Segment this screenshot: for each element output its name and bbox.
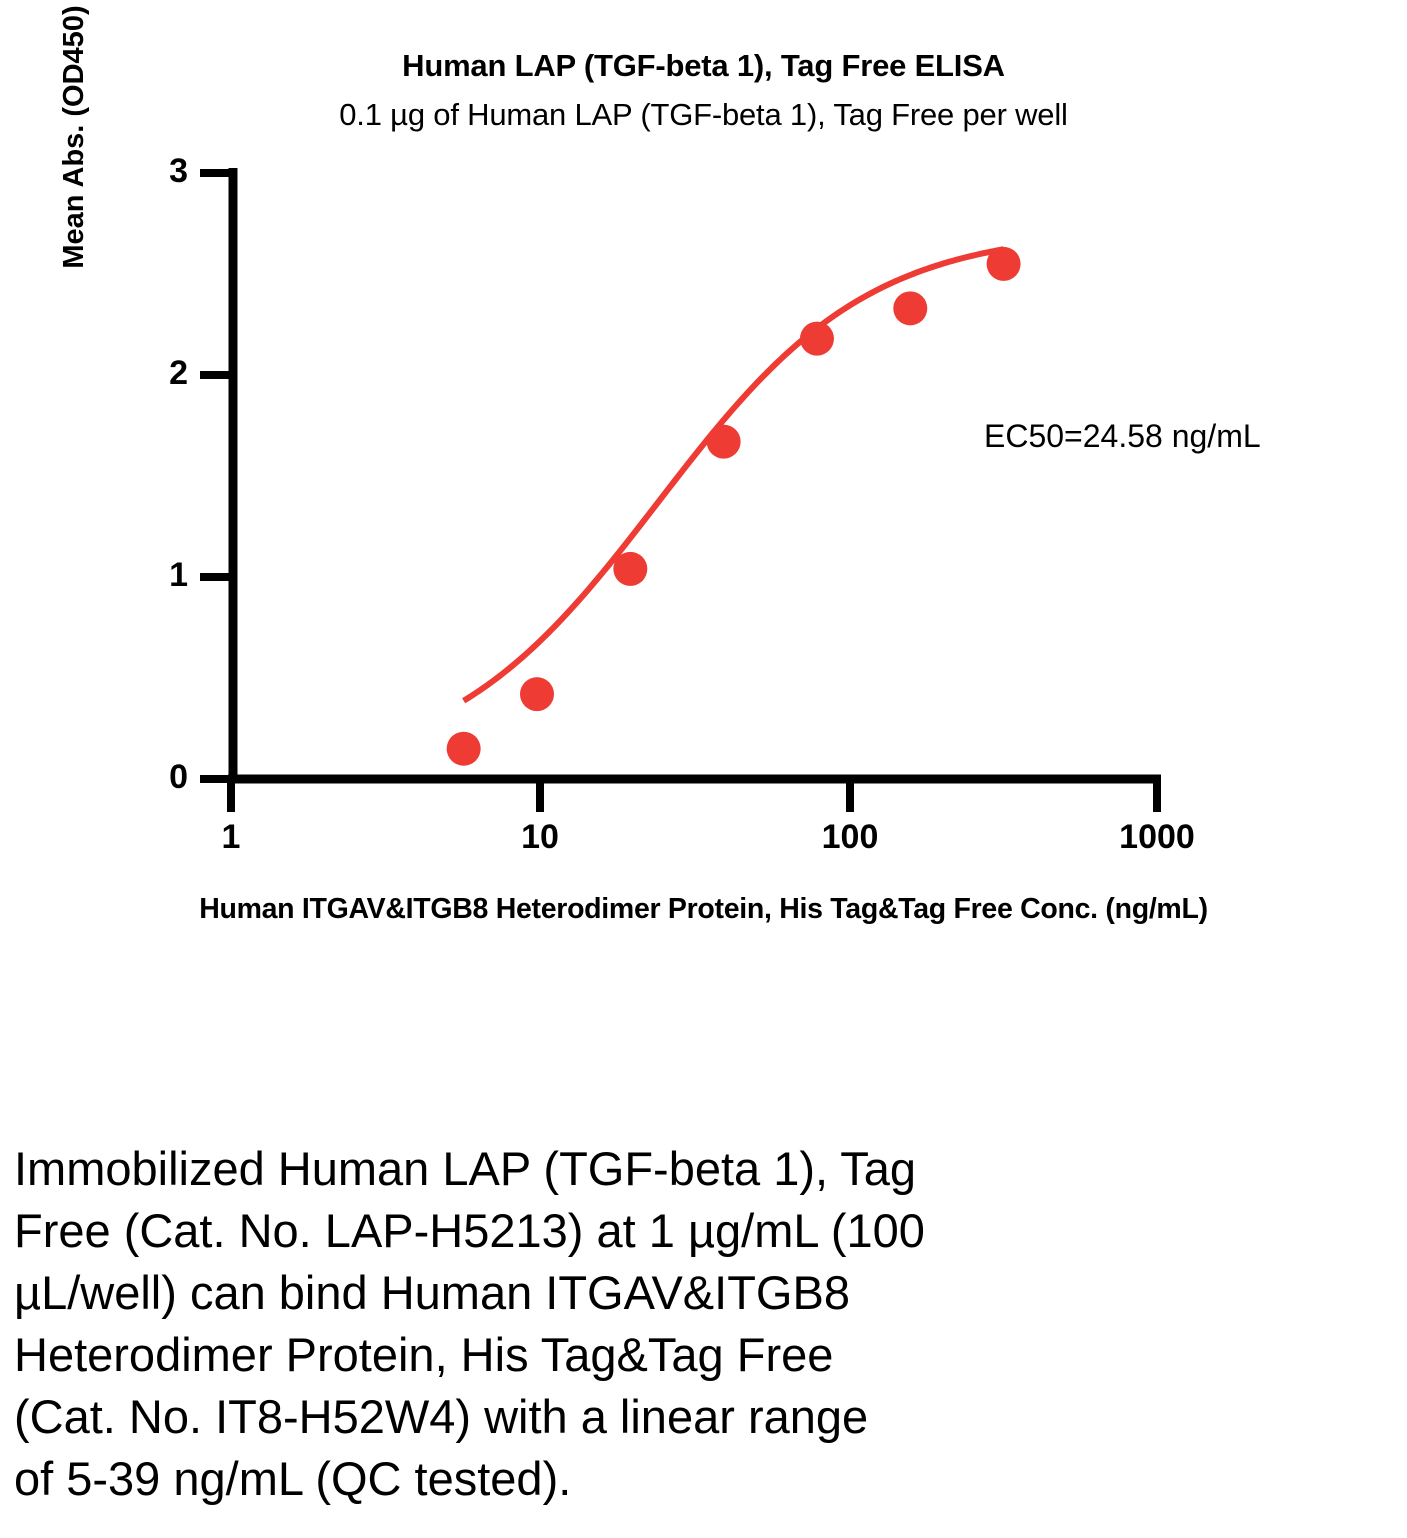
x-tick-label-1: 1 [191,818,271,857]
y-axis-ticks [200,173,233,779]
data-point [447,732,481,766]
data-point [800,322,834,356]
caption-line: (Cat. No. IT8-H52W4) with a linear range [14,1386,1184,1448]
caption-line: µL/well) can bind Human ITGAV&ITGB8 [14,1262,1184,1324]
y-axis-label: Mean Abs. (OD450) [58,0,98,327]
ec50-annotation: EC50=24.58 ng/mL [984,418,1261,455]
x-axis-ticks [231,779,1157,812]
x-tick-label-1000: 1000 [1097,818,1217,857]
y-tick-label-0: 0 [146,758,188,797]
figure-caption: Immobilized Human LAP (TGF-beta 1), Tag … [14,1138,1184,1510]
data-point [987,247,1021,281]
data-point [613,552,647,586]
y-tick-label-3: 3 [146,152,188,191]
caption-line: Heterodimer Protein, His Tag&Tag Free [14,1324,1184,1386]
x-axis-label: Human ITGAV&ITGB8 Heterodimer Protein, H… [0,893,1407,926]
data-point-group [447,247,1021,766]
axis-lines [228,168,1161,783]
caption-line: Immobilized Human LAP (TGF-beta 1), Tag [14,1138,1184,1200]
data-point [520,677,554,711]
x-tick-label-10: 10 [500,818,580,857]
x-tick-label-100: 100 [800,818,900,857]
y-tick-label-1: 1 [146,556,188,595]
data-point [707,425,741,459]
data-point [893,291,927,325]
caption-line: Free (Cat. No. LAP-H5213) at 1 µg/mL (10… [14,1200,1184,1262]
elisa-chart-figure: Human LAP (TGF-beta 1), Tag Free ELISA 0… [0,0,1407,960]
caption-line: of 5-39 ng/mL (QC tested). [14,1448,1184,1510]
plot-canvas [0,0,1407,960]
y-tick-label-2: 2 [146,354,188,393]
